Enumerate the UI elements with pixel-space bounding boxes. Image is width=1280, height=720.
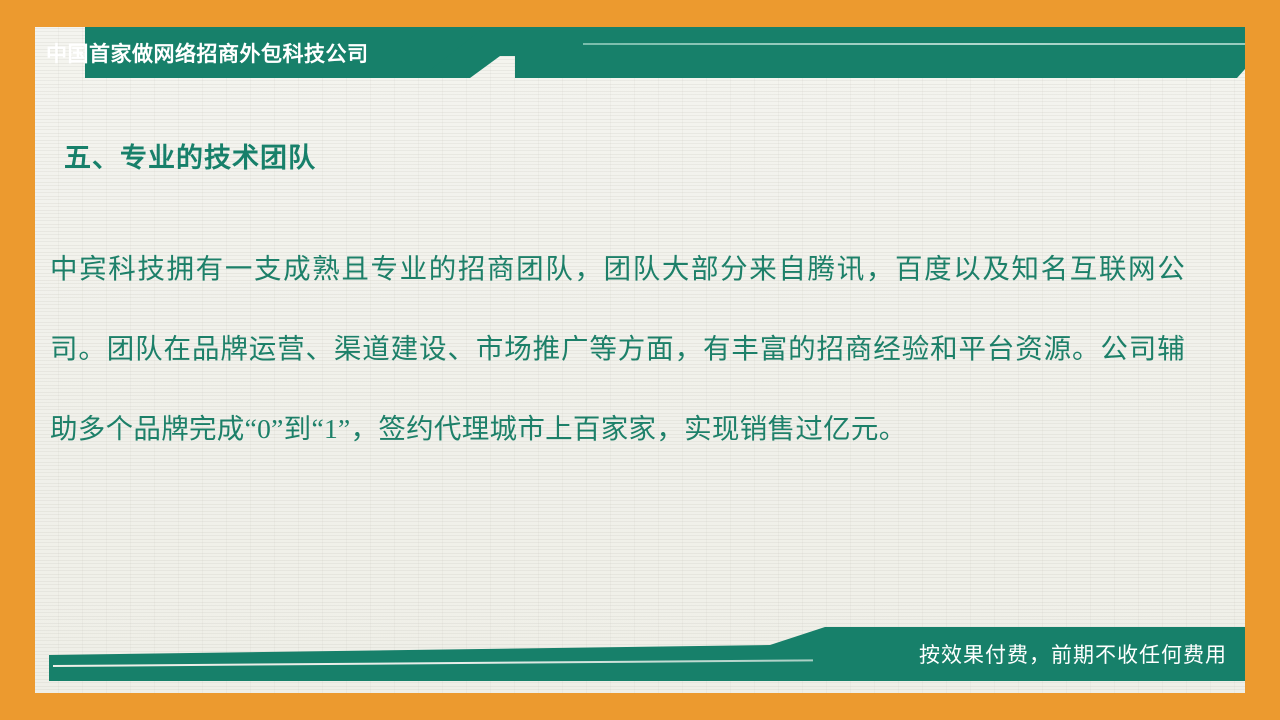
footer-tagline: 按效果付费，前期不收任何费用 bbox=[919, 639, 1227, 669]
header-title: 中国首家做网络招商外包科技公司 bbox=[46, 38, 369, 68]
slide-root: 中国首家做网络招商外包科技公司 五、专业的技术团队 中宾科技拥有一支成熟且专业的… bbox=[0, 0, 1280, 720]
body-paragraph: 中宾科技拥有一支成熟且专业的招商团队，团队大部分来自腾讯，百度以及知名互联网公司… bbox=[50, 229, 1185, 469]
header-divider-line bbox=[583, 43, 1245, 45]
footer-band: 按效果付费，前期不收任何费用 bbox=[35, 625, 1245, 693]
section-heading: 五、专业的技术团队 bbox=[64, 136, 316, 175]
